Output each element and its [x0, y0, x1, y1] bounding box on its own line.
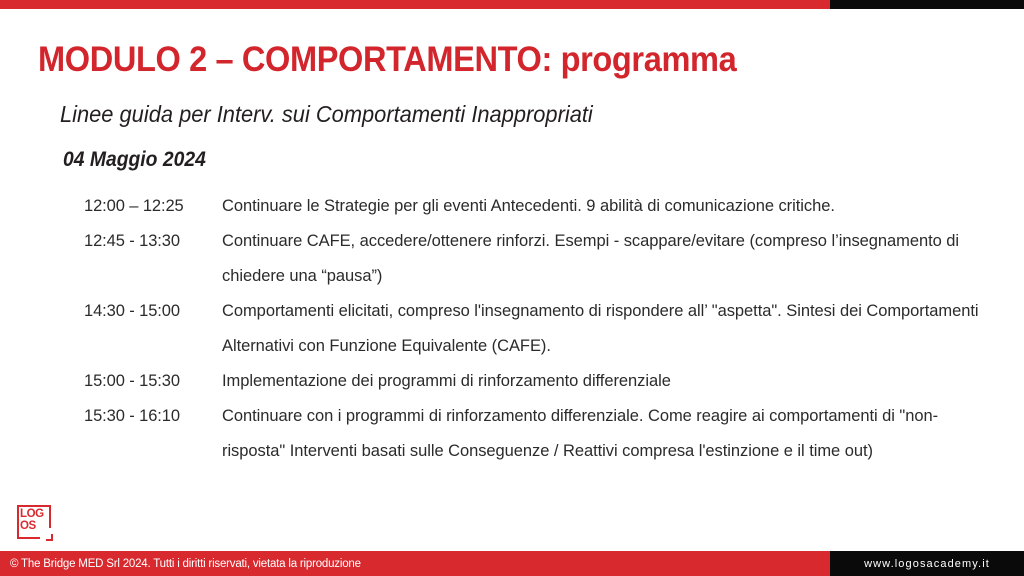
- table-row: 14:30 - 15:00 Comportamenti elicitati, c…: [84, 294, 992, 364]
- logo-wordmark-line-1: LOG: [20, 508, 46, 520]
- table-row: 15:00 - 15:30 Implementazione dei progra…: [84, 364, 992, 399]
- schedule-description: Implementazione dei programmi di rinforz…: [222, 364, 992, 399]
- top-accent-bar-red: [0, 0, 830, 9]
- slide-content: MODULO 2 – COMPORTAMENTO: programma Line…: [0, 9, 1024, 543]
- schedule-time: 15:00 - 15:30: [84, 364, 222, 399]
- logos-academy-logo: LOG OS: [17, 505, 51, 539]
- schedule-time: 15:30 - 16:10: [84, 399, 222, 434]
- schedule-description: Comportamenti elicitati, compreso l'inse…: [222, 294, 992, 364]
- table-row: 15:30 - 16:10 Continuare con i programmi…: [84, 399, 992, 469]
- schedule-time: 14:30 - 15:00: [84, 294, 222, 329]
- schedule-description: Continuare le Strategie per gli eventi A…: [222, 189, 992, 224]
- table-row: 12:00 – 12:25 Continuare le Strategie pe…: [84, 189, 992, 224]
- logo-wordmark-line-2: OS: [20, 520, 46, 532]
- schedule-description: Continuare CAFE, accedere/ottenere rinfo…: [222, 224, 992, 294]
- footer-copyright: © The Bridge MED Srl 2024. Tutti i dirit…: [0, 551, 830, 576]
- schedule-table: 12:00 – 12:25 Continuare le Strategie pe…: [84, 189, 992, 469]
- schedule-time: 12:00 – 12:25: [84, 189, 222, 224]
- session-date: 04 Maggio 2024: [63, 148, 206, 172]
- logo-wordmark: LOG OS: [20, 508, 46, 532]
- page-title-accent: programma: [552, 40, 736, 79]
- schedule-time: 12:45 - 13:30: [84, 224, 222, 259]
- footer-bar: © The Bridge MED Srl 2024. Tutti i dirit…: [0, 551, 1024, 576]
- top-accent-bar-black: [830, 0, 1024, 9]
- page-subtitle: Linee guida per Interv. sui Comportament…: [60, 101, 593, 128]
- schedule-description: Continuare con i programmi di rinforzame…: [222, 399, 992, 469]
- table-row: 12:45 - 13:30 Continuare CAFE, accedere/…: [84, 224, 992, 294]
- page-title: MODULO 2 – COMPORTAMENTO: programma: [38, 40, 736, 80]
- top-accent-bar: [0, 0, 1024, 9]
- footer-website[interactable]: www.logosacademy.it: [830, 551, 1024, 576]
- page-title-main: MODULO 2 – COMPORTAMENTO:: [38, 40, 552, 79]
